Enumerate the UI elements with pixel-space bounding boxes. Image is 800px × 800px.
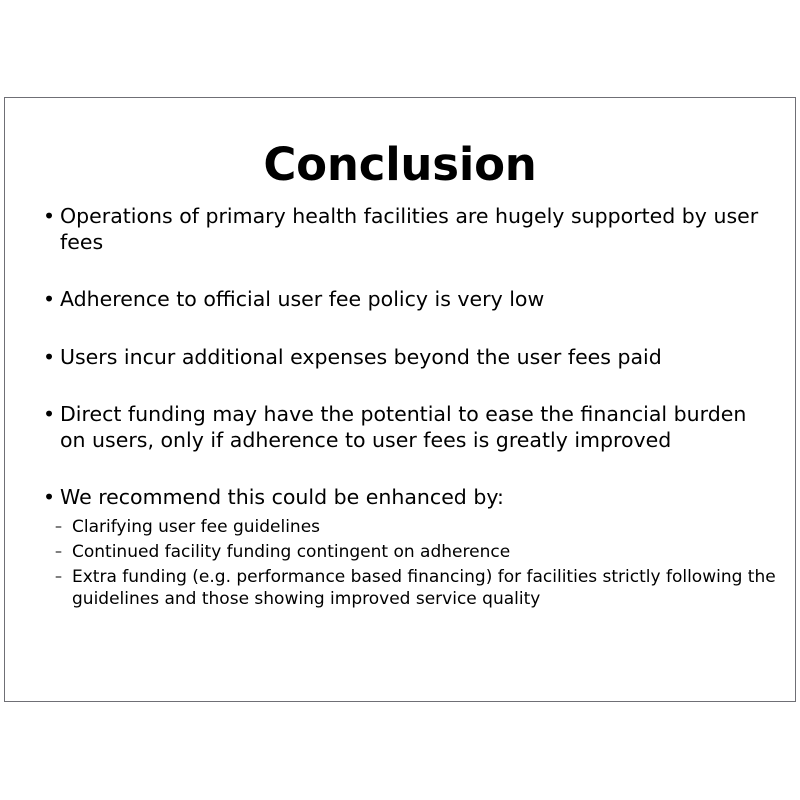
bullet-marker-icon: • [43,345,55,371]
bullet-text: We recommend this could be enhanced by: [60,485,778,511]
bullet-item: • Adherence to official user fee policy … [38,287,778,313]
bullet-text: Direct funding may have the potential to… [60,402,778,453]
slide-title: Conclusion [5,142,795,187]
bullet-item: • Direct funding may have the potential … [38,402,778,453]
sub-bullet-text: Clarifying user fee guidelines [72,516,778,538]
sub-bullet-item: – Continued facility funding contingent … [49,541,778,563]
dash-marker-icon: – [55,566,62,588]
sub-bullet-text: Extra funding (e.g. performance based fi… [72,566,778,610]
sub-bullet-list: – Clarifying user fee guidelines – Conti… [38,516,778,610]
bullet-item: • Operations of primary health facilitie… [38,204,778,255]
bullet-text: Users incur additional expenses beyond t… [60,345,778,371]
bullet-marker-icon: • [43,287,55,313]
sub-bullet-text: Continued facility funding contingent on… [72,541,778,563]
sub-bullet-item: – Clarifying user fee guidelines [49,516,778,538]
dash-marker-icon: – [55,541,62,563]
slide-frame: Conclusion • Operations of primary healt… [4,97,796,702]
slide-canvas: Conclusion • Operations of primary healt… [0,0,800,800]
bullet-text: Adherence to official user fee policy is… [60,287,778,313]
dash-marker-icon: – [55,516,62,538]
bullet-marker-icon: • [43,485,55,511]
bullet-item: • We recommend this could be enhanced by… [38,485,778,511]
bullet-marker-icon: • [43,402,55,428]
bullet-item: • Users incur additional expenses beyond… [38,345,778,371]
slide-body-content-placeholder: • Operations of primary health facilitie… [38,204,778,610]
bullet-marker-icon: • [43,204,55,230]
sub-bullet-item: – Extra funding (e.g. performance based … [49,566,778,610]
bullet-text: Operations of primary health facilities … [60,204,778,255]
